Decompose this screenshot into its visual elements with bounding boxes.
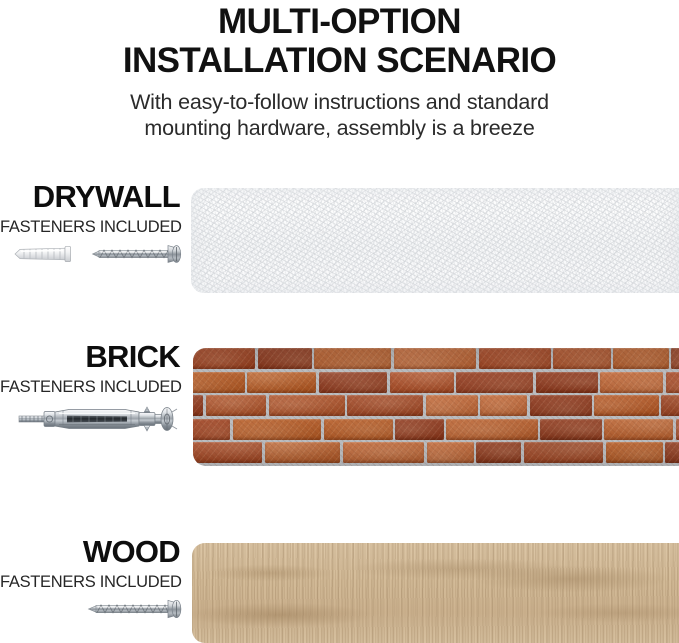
brick-unit	[193, 372, 245, 393]
brick-unit	[258, 348, 312, 369]
fasteners-included-drywall: FASTENERS INCLUDED	[0, 214, 185, 237]
brick-unit	[426, 395, 478, 416]
brick-course	[193, 419, 679, 440]
brick-unit	[394, 348, 476, 369]
brick-unit	[193, 442, 262, 463]
brick-unit	[540, 419, 602, 440]
brick-unit	[319, 372, 388, 393]
material-row-wood: WOOD FASTENERS INCLUDED	[0, 535, 679, 643]
wood-texture-swatch	[192, 543, 679, 643]
brick-unit	[427, 442, 474, 463]
brick-unit	[594, 395, 658, 416]
brick-unit	[476, 442, 521, 463]
brick-unit	[479, 348, 551, 369]
drywall-fastener-group	[0, 237, 185, 265]
brick-unit	[600, 372, 663, 393]
brick-course	[193, 372, 679, 393]
brick-label-column: BRICK FASTENERS INCLUDED	[0, 340, 185, 435]
brick-fastener-group	[0, 397, 185, 435]
wood-fastener-group	[0, 592, 185, 620]
brick-pattern	[193, 348, 679, 466]
page-subtitle: With easy-to-follow instructions and sta…	[0, 80, 679, 141]
wood-screw-icon	[87, 598, 183, 620]
brick-unit	[606, 442, 663, 463]
drywall-label-column: DRYWALL FASTENERS INCLUDED	[0, 180, 185, 265]
brick-unit	[265, 442, 340, 463]
material-row-brick: BRICK FASTENERS INCLUDED	[0, 340, 679, 472]
drywall-texture-swatch	[191, 188, 679, 293]
wood-label-column: WOOD FASTENERS INCLUDED	[0, 535, 185, 620]
fasteners-included-brick: FASTENERS INCLUDED	[0, 374, 185, 397]
brick-unit	[395, 419, 443, 440]
brick-unit	[480, 395, 527, 416]
brick-unit	[665, 442, 679, 463]
brick-unit	[343, 442, 425, 463]
brick-unit	[269, 395, 345, 416]
material-name-brick: BRICK	[0, 340, 185, 374]
brick-texture-swatch	[193, 348, 679, 466]
brick-unit	[553, 348, 610, 369]
molly-bolt-anchor-icon	[17, 403, 183, 435]
brick-unit	[524, 442, 603, 463]
header: MULTI-OPTION INSTALLATION SCENARIO With …	[0, 0, 679, 141]
material-name-wood: WOOD	[0, 535, 185, 569]
material-name-drywall: DRYWALL	[0, 180, 185, 214]
fasteners-included-wood: FASTENERS INCLUDED	[0, 569, 185, 592]
page-title-line-2: INSTALLATION SCENARIO	[0, 41, 679, 80]
page-subtitle-line-2: mounting hardware, assembly is a breeze	[0, 115, 679, 141]
brick-unit	[193, 419, 230, 440]
brick-unit	[206, 395, 266, 416]
material-row-drywall: DRYWALL FASTENERS INCLUDED	[0, 180, 679, 300]
brick-unit	[456, 372, 533, 393]
page-title-line-1: MULTI-OPTION	[0, 2, 679, 41]
brick-unit	[666, 372, 679, 393]
brick-unit	[324, 419, 393, 440]
page-title: MULTI-OPTION INSTALLATION SCENARIO	[0, 0, 679, 80]
brick-unit	[314, 348, 391, 369]
brick-unit	[613, 348, 669, 369]
brick-unit	[446, 419, 537, 440]
brick-course	[193, 348, 679, 369]
page-subtitle-line-1: With easy-to-follow instructions and sta…	[0, 89, 679, 115]
brick-unit	[604, 419, 673, 440]
brick-course	[193, 442, 679, 463]
screw-icon	[91, 243, 183, 265]
brick-unit	[536, 372, 598, 393]
brick-unit	[247, 372, 316, 393]
wall-anchor-icon	[11, 243, 83, 265]
brick-course	[193, 395, 679, 416]
brick-unit	[661, 395, 679, 416]
brick-unit	[671, 348, 679, 369]
brick-unit	[530, 395, 592, 416]
brick-unit	[347, 395, 423, 416]
brick-unit	[193, 348, 255, 369]
brick-unit	[193, 395, 203, 416]
brick-unit	[233, 419, 322, 440]
brick-unit	[390, 372, 454, 393]
